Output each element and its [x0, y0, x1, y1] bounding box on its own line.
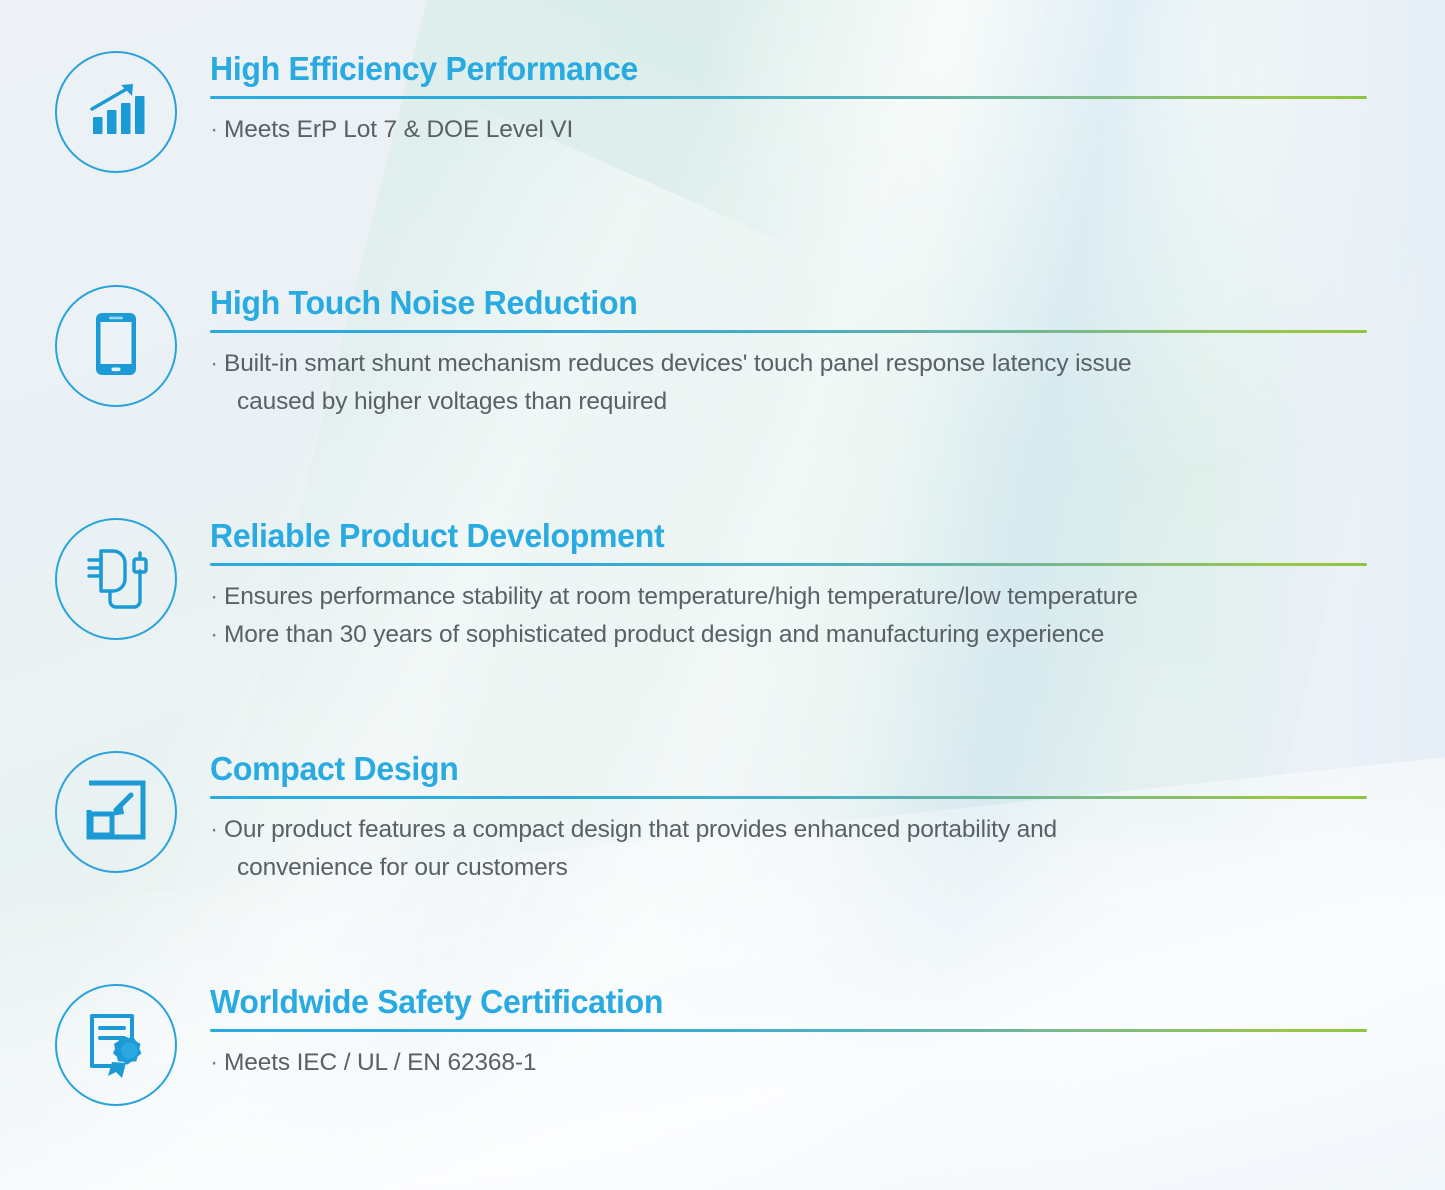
- feature-highlights-page: High Efficiency Performance · Meets ErP …: [0, 0, 1445, 1190]
- icon-circle-compact-design: [55, 751, 177, 873]
- feature-title: High Touch Noise Reduction: [210, 286, 1332, 321]
- feature-divider: [210, 96, 1367, 99]
- shrink-resize-icon: [84, 778, 148, 847]
- bar-chart-growth-icon: [85, 79, 147, 146]
- bullet-item: · Meets IEC / UL / EN 62368-1: [210, 1044, 1367, 1082]
- bullet-text-line2: convenience for our customers: [224, 849, 1057, 887]
- feature-divider: [210, 796, 1367, 799]
- bullet-marker: ·: [210, 345, 218, 421]
- feature-divider: [210, 330, 1367, 333]
- feature-body-compact-design: Compact Design · Our product features a …: [210, 752, 1367, 887]
- feature-title: Reliable Product Development: [210, 519, 1332, 554]
- icon-circle-worldwide-safety-certification: [55, 984, 177, 1106]
- bullet-item: · More than 30 years of sophisticated pr…: [210, 616, 1367, 654]
- bullet-text-line1: Built-in smart shunt mechanism reduces d…: [224, 350, 1132, 377]
- bullet-text-line1: Our product features a compact design th…: [224, 816, 1057, 843]
- bullet-text-line1: Ensures performance stability at room te…: [224, 583, 1138, 610]
- feature-body-reliable-product-development: Reliable Product Development · Ensures p…: [210, 519, 1367, 654]
- bullet-text-line1: More than 30 years of sophisticated prod…: [224, 621, 1104, 648]
- bullet-text-line1: Meets ErP Lot 7 & DOE Level VI: [224, 116, 573, 143]
- bullet-marker: ·: [210, 578, 218, 616]
- feature-divider: [210, 563, 1367, 566]
- bullet-marker: ·: [210, 811, 218, 887]
- power-adapter-icon: [77, 541, 155, 618]
- feature-body-worldwide-safety-certification: Worldwide Safety Certification · Meets I…: [210, 985, 1367, 1082]
- feature-divider: [210, 1029, 1367, 1032]
- bullet-text-line1: Meets IEC / UL / EN 62368-1: [224, 1049, 536, 1076]
- bullet-item: · Ensures performance stability at room …: [210, 578, 1367, 616]
- feature-body-high-efficiency-performance: High Efficiency Performance · Meets ErP …: [210, 52, 1367, 149]
- feature-bullets: · Our product features a compact design …: [210, 811, 1367, 887]
- icon-circle-high-efficiency-performance: [55, 51, 177, 173]
- feature-bullets: · Ensures performance stability at room …: [210, 578, 1367, 654]
- feature-bullets: · Meets IEC / UL / EN 62368-1: [210, 1044, 1367, 1082]
- bullet-text-line2: caused by higher voltages than required: [224, 383, 1132, 421]
- smartphone-icon: [94, 311, 138, 382]
- icon-circle-high-touch-noise-reduction: [55, 285, 177, 407]
- feature-bullets: · Built-in smart shunt mechanism reduces…: [210, 345, 1367, 421]
- bullet-marker: ·: [210, 1044, 218, 1082]
- feature-title: High Efficiency Performance: [210, 52, 1332, 87]
- feature-body-high-touch-noise-reduction: High Touch Noise Reduction · Built-in sm…: [210, 286, 1367, 421]
- bullet-marker: ·: [210, 616, 218, 654]
- feature-bullets: · Meets ErP Lot 7 & DOE Level VI: [210, 111, 1367, 149]
- certificate-seal-icon: [82, 1008, 150, 1083]
- bullet-item: · Meets ErP Lot 7 & DOE Level VI: [210, 111, 1367, 149]
- icon-circle-reliable-product-development: [55, 518, 177, 640]
- feature-title: Compact Design: [210, 752, 1332, 787]
- bullet-item: · Built-in smart shunt mechanism reduces…: [210, 345, 1367, 421]
- bullet-marker: ·: [210, 111, 218, 149]
- feature-title: Worldwide Safety Certification: [210, 985, 1332, 1020]
- bullet-item: · Our product features a compact design …: [210, 811, 1367, 887]
